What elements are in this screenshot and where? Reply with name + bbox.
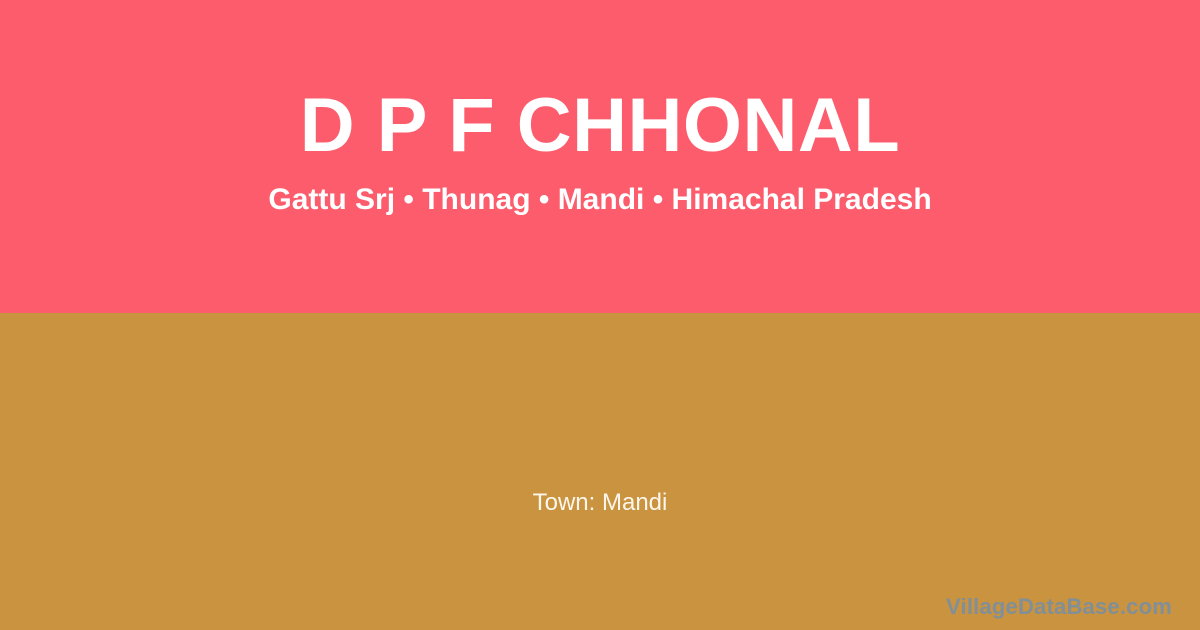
town-detail: Town: Mandi bbox=[0, 488, 1200, 518]
details-panel: Town: Mandi VillageDataBase.com bbox=[0, 313, 1200, 630]
site-watermark: VillageDataBase.com bbox=[946, 595, 1172, 619]
hero-banner: D P F CHHONAL Gattu Srj • Thunag • Mandi… bbox=[0, 0, 1200, 313]
page-title: D P F CHHONAL bbox=[0, 88, 1200, 164]
village-info-card: D P F CHHONAL Gattu Srj • Thunag • Mandi… bbox=[0, 0, 1200, 630]
location-breadcrumb: Gattu Srj • Thunag • Mandi • Himachal Pr… bbox=[0, 182, 1200, 218]
